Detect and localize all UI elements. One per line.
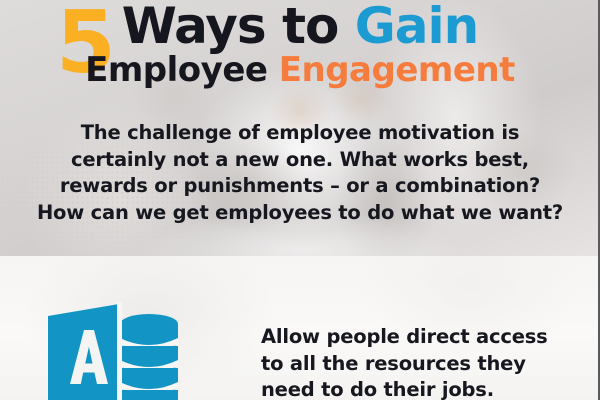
intro-paragraph-line: rewards or punishments – or a combinatio… xyxy=(0,173,600,200)
access-database-icon-glyph xyxy=(46,302,178,400)
infographic-root: 5 Ways to Gain Employee Engagement The c… xyxy=(0,0,600,400)
benefit-section: Allow people direct access to all the re… xyxy=(0,256,600,400)
title-word-engagement: Engagement xyxy=(279,50,515,90)
title-word-gain: Gain xyxy=(355,0,479,55)
benefit-description-line: need to do their jobs. xyxy=(261,377,591,400)
intro-paragraph-line: How can we get employees to do what we w… xyxy=(0,200,600,227)
access-database-icon xyxy=(46,302,178,400)
intro-paragraph-line: certainly not a new one. What works best… xyxy=(0,147,600,174)
benefit-description: Allow people direct access to all the re… xyxy=(261,324,591,400)
icon-panel-gap xyxy=(117,302,122,400)
title-block: 5 Ways to Gain Employee Engagement xyxy=(0,0,600,100)
header-section: 5 Ways to Gain Employee Engagement The c… xyxy=(0,0,600,256)
intro-paragraph: The challenge of employee motivation is … xyxy=(0,120,600,226)
title-line-primary: Ways to Gain xyxy=(0,0,600,54)
title-line-secondary: Employee Engagement xyxy=(0,50,600,90)
title-word-ways-to: Ways to xyxy=(122,0,355,55)
benefit-description-line: Allow people direct access xyxy=(261,324,591,351)
intro-paragraph-line: The challenge of employee motivation is xyxy=(0,120,600,147)
title-word-employee: Employee xyxy=(85,50,279,90)
benefit-description-line: to all the resources they xyxy=(261,351,591,378)
icon-database-cylinder xyxy=(120,314,178,400)
